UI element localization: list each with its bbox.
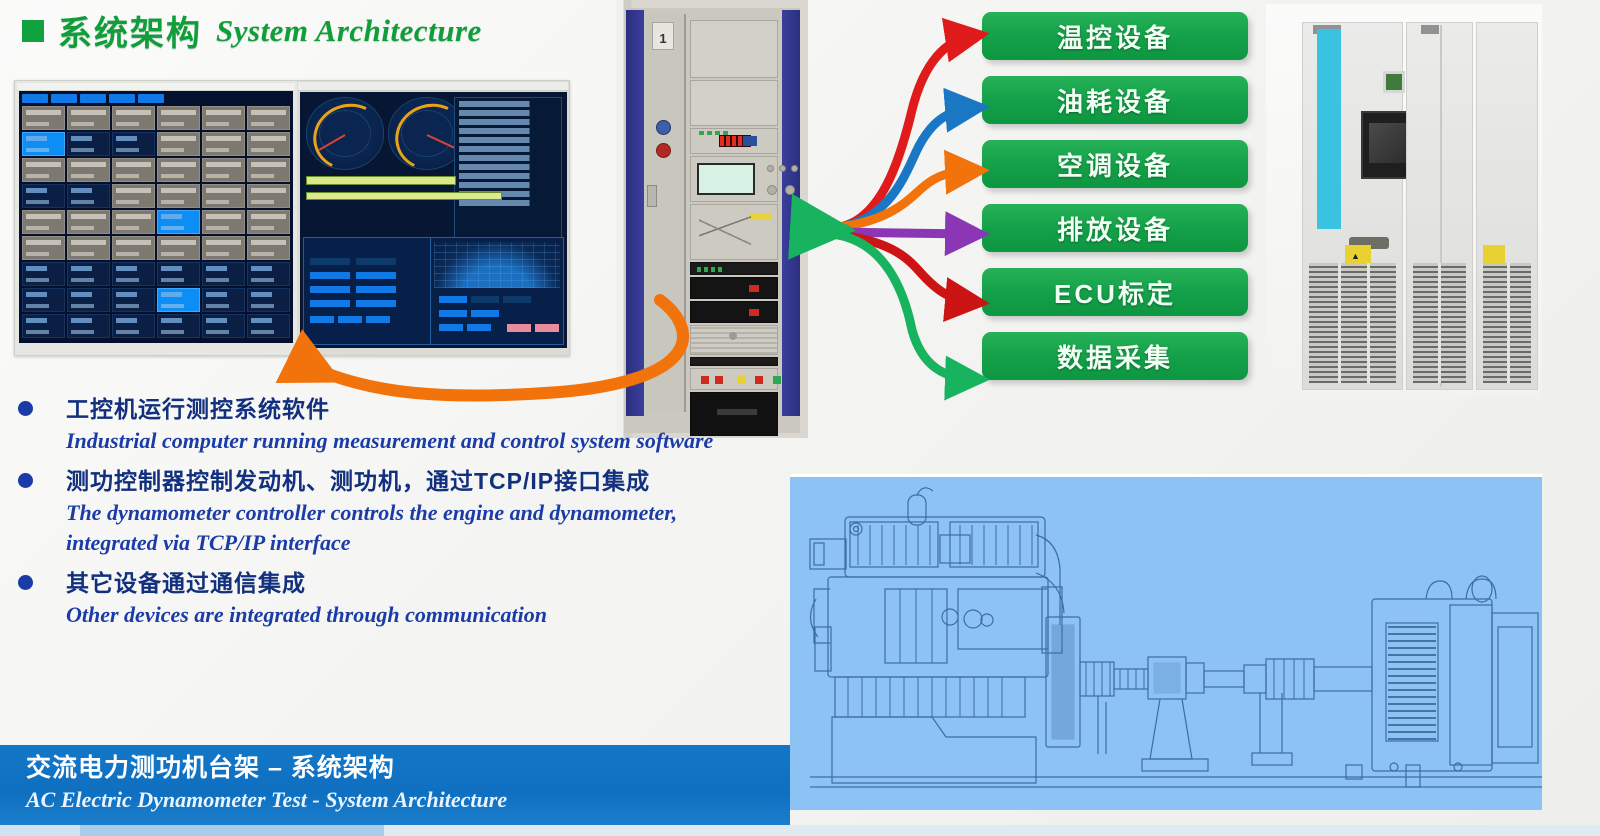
parameter-cell[interactable] [202, 184, 245, 208]
parameter-cell[interactable] [112, 236, 155, 260]
parameter-cell-value [26, 200, 49, 204]
arrow-emissions [832, 232, 972, 234]
parameter-cell[interactable] [247, 262, 290, 286]
parameter-cell[interactable] [157, 210, 200, 234]
arrow-ecu-calibration [832, 234, 972, 302]
grid-tab [22, 94, 48, 103]
parameter-cell-value [116, 304, 139, 308]
parameter-cell[interactable] [202, 106, 245, 130]
parameter-cell[interactable] [67, 106, 110, 130]
parameter-cell-value [71, 148, 94, 152]
parameter-cell[interactable] [157, 236, 200, 260]
parameter-cell-value [161, 278, 184, 282]
cabinet-number-label: 1 [652, 22, 674, 50]
parameter-cell[interactable] [247, 236, 290, 260]
window-titlebar [17, 83, 295, 91]
parameter-cell[interactable] [67, 236, 110, 260]
wiring-module [690, 204, 778, 260]
parameter-cell[interactable] [202, 314, 245, 338]
parameter-cell-name [116, 188, 151, 193]
parameter-cell[interactable] [112, 184, 155, 208]
bullet-text-cn: 其它设备通过通信集成 [66, 566, 768, 600]
parameter-cell-value [206, 304, 229, 308]
parameter-cell[interactable] [67, 184, 110, 208]
grid-tab-row [22, 94, 290, 103]
parameter-cell-name [71, 214, 106, 219]
parameter-cell-name [116, 136, 151, 141]
grid-tab [138, 94, 164, 103]
parameter-cell[interactable] [22, 288, 65, 312]
bullet-dot-icon [18, 401, 33, 416]
parameter-cell-value [251, 122, 274, 126]
parameter-cell[interactable] [247, 288, 290, 312]
parameter-cell-value [71, 252, 94, 256]
parameter-cell-name [116, 214, 151, 219]
bullet-dot-icon [18, 575, 33, 590]
parameter-cell[interactable] [22, 158, 65, 182]
parameter-cell[interactable] [67, 132, 110, 156]
parameter-cell-name [116, 318, 151, 323]
parameter-cell[interactable] [247, 158, 290, 182]
blank-panel [690, 20, 778, 78]
arrow-fuel-consumption [832, 108, 972, 228]
parameter-cell[interactable] [202, 236, 245, 260]
parameter-cell-name [116, 162, 151, 167]
parameter-cell-value [251, 200, 274, 204]
parameter-cell-value [26, 278, 49, 282]
parameter-cell[interactable] [157, 132, 200, 156]
parameter-cell-value [26, 148, 49, 152]
parameter-cell[interactable] [112, 210, 155, 234]
equipment-box-label: 温控设备 [1057, 18, 1173, 55]
parameter-cell[interactable] [157, 158, 200, 182]
parameter-cell-name [251, 240, 286, 245]
bullet-item-2: 测功控制器控制发动机、测功机，通过TCP/IP接口集成The dynamomet… [8, 464, 768, 558]
parameter-cell[interactable] [157, 184, 200, 208]
parameter-cell-name [26, 136, 61, 141]
equipment-box-label: 排放设备 [1057, 210, 1173, 247]
amplifier-module [690, 277, 778, 299]
parameter-cell-name [161, 214, 196, 219]
equipment-box-1[interactable]: 温控设备 [982, 12, 1248, 60]
parameter-cell-value [26, 226, 49, 230]
parameter-cell-value [161, 174, 184, 178]
arrow-into-cabinet [812, 228, 846, 230]
parameter-cell-name [206, 214, 241, 219]
page-title-en: System Architecture [216, 13, 482, 49]
parameter-cell-value [71, 200, 94, 204]
parameter-cell-name [26, 292, 61, 297]
parameter-cell-value [26, 252, 49, 256]
switch-panel-module [690, 368, 778, 390]
bullet-text-cn: 工控机运行测控系统软件 [66, 392, 768, 426]
load-bar-meter [306, 192, 502, 200]
parameter-cell-value [71, 174, 94, 178]
measurement-control-cabinet-photo: 1 [616, 0, 808, 438]
parameter-cell-name [71, 110, 106, 115]
parameter-cell[interactable] [112, 288, 155, 312]
parameter-cell-value [161, 330, 184, 334]
bullet-text-cn: 测功控制器控制发动机、测功机，通过TCP/IP接口集成 [66, 464, 768, 498]
parameter-grid [19, 91, 293, 343]
control-window-body [300, 92, 567, 348]
parameter-cell[interactable] [202, 210, 245, 234]
parameter-cell-name [161, 110, 196, 115]
parameter-cell[interactable] [112, 314, 155, 338]
parameter-cell-value [161, 200, 184, 204]
cabinet-blue-button [656, 120, 671, 135]
parameter-cell-value [26, 174, 49, 178]
parameter-cell-name [251, 162, 286, 167]
equipment-box-label: 空调设备 [1057, 146, 1173, 183]
status-strip-module [690, 262, 778, 275]
parameter-cell[interactable] [202, 158, 245, 182]
parameter-cell-value [116, 226, 139, 230]
dynamometer-control-window [297, 81, 569, 355]
parameter-cell-value [116, 278, 139, 282]
equipment-box-list: 温控设备油耗设备空调设备排放设备ECU标定数据采集 [982, 12, 1248, 396]
parameter-cell[interactable] [22, 210, 65, 234]
slide-root: 系统架构 System Architecture [0, 0, 1600, 836]
parameter-cell[interactable] [247, 184, 290, 208]
parameter-cell-name [26, 188, 61, 193]
parameter-cell-name [161, 136, 196, 141]
parameter-cell-name [206, 136, 241, 141]
industrial-computer-screenshot [14, 80, 570, 356]
parameter-cell-name [251, 110, 286, 115]
parameter-cell-name [161, 162, 196, 167]
parameter-cell[interactable] [247, 314, 290, 338]
parameter-cell[interactable] [67, 210, 110, 234]
bullet-list: 工控机运行测控系统软件Industrial computer running m… [8, 392, 768, 638]
parameter-cell[interactable] [112, 262, 155, 286]
parameter-cell[interactable] [67, 158, 110, 182]
equipment-box-4[interactable]: 排放设备 [982, 204, 1248, 252]
parameter-cell[interactable] [157, 314, 200, 338]
cabinet-door [646, 14, 686, 412]
bullet-dot-icon [18, 473, 33, 488]
parameter-cell-name [71, 266, 106, 271]
arrow-data-acquisition [832, 234, 972, 379]
parameter-cell-value [251, 148, 274, 152]
parameter-cell-name [206, 240, 241, 245]
parameter-cell-value [116, 148, 139, 152]
amplifier-module [690, 301, 778, 323]
parameter-cell[interactable] [67, 288, 110, 312]
parameter-cell-name [71, 240, 106, 245]
instrument-module-stack [690, 20, 778, 408]
parameter-cell-name [26, 162, 61, 167]
parameter-cell[interactable] [22, 262, 65, 286]
parameter-cell[interactable] [157, 262, 200, 286]
ventilated-power-module [690, 325, 778, 355]
parameter-cell-value [161, 226, 184, 230]
parameter-cell[interactable] [22, 184, 65, 208]
parameter-cell-value [161, 252, 184, 256]
bullet-item-1: 工控机运行测控系统软件Industrial computer running m… [8, 392, 768, 456]
parameter-cell-name [26, 110, 61, 115]
parameter-cell-value [26, 122, 49, 126]
parameter-cell-name [26, 240, 61, 245]
arrow-air-conditioning [832, 171, 972, 228]
grid-tab [109, 94, 135, 103]
parameter-cell-value [71, 122, 94, 126]
bullet-text-en: Other devices are integrated through com… [66, 600, 768, 630]
parameter-cell[interactable] [247, 132, 290, 156]
parameter-cell[interactable] [22, 236, 65, 260]
parameter-cell-value [71, 226, 94, 230]
parameter-cell-name [26, 266, 61, 271]
equipment-box-label: 油耗设备 [1057, 82, 1173, 119]
parameter-cell-name [116, 110, 151, 115]
lcd-controller-module [690, 156, 778, 202]
parameter-cell-value [116, 174, 139, 178]
parameter-cell-name [251, 266, 286, 271]
parameter-cell-name [251, 188, 286, 193]
parameter-cell[interactable] [67, 314, 110, 338]
parameter-cell[interactable] [22, 132, 65, 156]
window-titlebar [298, 82, 568, 91]
parameter-cell-name [161, 240, 196, 245]
equipment-box-5[interactable]: ECU标定 [982, 268, 1248, 316]
parameter-cell-value [251, 304, 274, 308]
bullet-text-en: Industrial computer running measurement … [66, 426, 768, 456]
parameter-cell[interactable] [67, 262, 110, 286]
parameter-cell-value [206, 200, 229, 204]
parameter-cell[interactable] [202, 132, 245, 156]
status-strip-module [690, 357, 778, 366]
parameter-cell-name [251, 136, 286, 141]
parameter-cell-value [251, 278, 274, 282]
parameter-cell-value [26, 330, 49, 334]
parameter-cell-name [161, 318, 196, 323]
cabinet-right-post [782, 10, 800, 416]
engine-dynamometer-line-drawing [790, 474, 1542, 810]
parameter-cell-name [71, 188, 106, 193]
parameter-cell-value [71, 330, 94, 334]
parameter-cell[interactable] [112, 132, 155, 156]
parameter-cell-value [116, 122, 139, 126]
parameter-cell-name [206, 292, 241, 297]
speed-gauge [306, 97, 384, 170]
parameter-cell-name [251, 292, 286, 297]
parameter-cell-value [206, 226, 229, 230]
parameter-cell-value [206, 278, 229, 282]
parameter-cell-name [161, 292, 196, 297]
equipment-box-label: ECU标定 [1054, 274, 1176, 311]
parameter-cell-name [206, 188, 241, 193]
footer-title-en: AC Electric Dynamometer Test - System Ar… [26, 785, 790, 815]
parameter-cell[interactable] [112, 106, 155, 130]
parameter-cell[interactable] [112, 158, 155, 182]
parameter-cell-value [206, 122, 229, 126]
parameter-cell-name [26, 318, 61, 323]
parameter-cell-value [251, 330, 274, 334]
equipment-box-label: 数据采集 [1057, 338, 1173, 375]
parameter-cell[interactable] [247, 106, 290, 130]
parameter-cell-name [116, 266, 151, 271]
equipment-box-2[interactable]: 油耗设备 [982, 76, 1248, 124]
parameter-cell-name [206, 266, 241, 271]
parameter-cell-name [161, 188, 196, 193]
parameter-cell-value [206, 148, 229, 152]
parameter-cell-value [206, 252, 229, 256]
parameter-cell-name [251, 214, 286, 219]
square-bullet-icon [22, 20, 44, 42]
cabinet-left-post [626, 10, 644, 416]
grid-tab [80, 94, 106, 103]
parameter-cell-value [161, 122, 184, 126]
ac-drive-cabinet-photo [1266, 4, 1542, 398]
trend-subwindow [430, 237, 564, 345]
parameter-cell-name [161, 266, 196, 271]
cabinet-emergency-stop [656, 143, 671, 158]
parameter-cell-name [116, 240, 151, 245]
parameter-cell-value [206, 174, 229, 178]
parameter-cell-value [161, 304, 184, 308]
parameter-cell-value [26, 304, 49, 308]
parameter-cell[interactable] [22, 106, 65, 130]
parameter-cell-name [71, 136, 106, 141]
parameter-cell[interactable] [247, 210, 290, 234]
parameter-cell-name [71, 292, 106, 297]
parameter-cell-name [116, 292, 151, 297]
digital-readout-module [690, 128, 778, 154]
equipment-box-3[interactable]: 空调设备 [982, 140, 1248, 188]
arrow-temperature-control [832, 36, 972, 228]
parameter-cell-value [71, 304, 94, 308]
parameter-cell[interactable] [157, 106, 200, 130]
bottom-edge-strip [0, 825, 1600, 836]
parameter-cell-value [251, 174, 274, 178]
bullet-item-3: 其它设备通过通信集成Other devices are integrated t… [8, 566, 768, 630]
parameter-cell-value [251, 252, 274, 256]
measurement-grid-window [15, 81, 297, 355]
throttle-bar-meter [306, 176, 456, 185]
page-title-cn: 系统架构 [58, 6, 202, 55]
parameter-cell-name [206, 318, 241, 323]
page-title: 系统架构 System Architecture [22, 6, 482, 55]
cabinet-handle [647, 185, 657, 207]
parameter-cell-value [206, 330, 229, 334]
parameter-cell[interactable] [157, 288, 200, 312]
parameter-cell-name [251, 318, 286, 323]
parameter-cell-value [71, 278, 94, 282]
footer-banner: 交流电力测功机台架 – 系统架构 AC Electric Dynamometer… [0, 745, 790, 825]
parameter-cell-value [116, 200, 139, 204]
footer-title-cn: 交流电力测功机台架 – 系统架构 [26, 751, 790, 785]
parameter-cell-value [251, 226, 274, 230]
grid-tab [51, 94, 77, 103]
blank-panel [690, 80, 778, 126]
parameter-cell-name [71, 318, 106, 323]
parameter-cell-name [206, 162, 241, 167]
bullet-text-en: The dynamometer controller controls the … [66, 498, 768, 558]
parameter-cell-name [71, 162, 106, 167]
parameter-cell-value [161, 148, 184, 152]
parameter-cell-name [26, 214, 61, 219]
parameter-cell-value [116, 330, 139, 334]
event-log-panel [454, 97, 562, 252]
parameter-cell[interactable] [22, 314, 65, 338]
parameter-cell-value [116, 252, 139, 256]
parameter-cell[interactable] [202, 288, 245, 312]
parameter-cell-grid [22, 106, 290, 338]
parameter-cell-name [206, 110, 241, 115]
parameter-cell[interactable] [202, 262, 245, 286]
setpoint-subwindow [303, 237, 431, 345]
equipment-box-6[interactable]: 数据采集 [982, 332, 1248, 380]
